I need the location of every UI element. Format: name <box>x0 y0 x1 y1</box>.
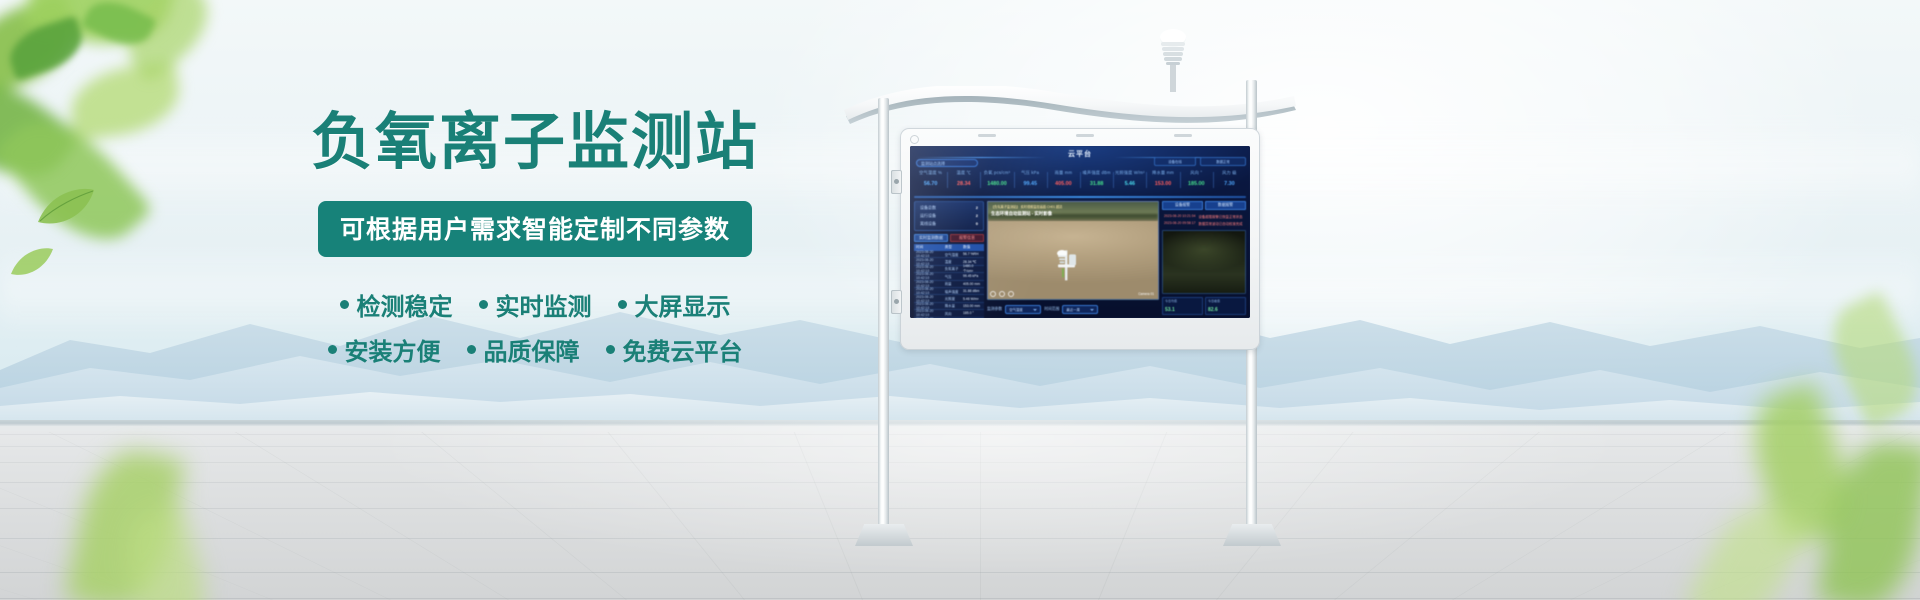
th-type: 类型 <box>945 245 963 250</box>
cell-value: 153.00 mm <box>963 304 984 308</box>
cloud-platform-dashboard[interactable]: 云平台 监测站点选择 设备在线 数据正常 空气湿度 %56.70温度 ℃28.3… <box>910 146 1250 318</box>
metric-label: 温度 ℃ <box>947 170 980 176</box>
cell-type: 风向 <box>945 311 963 316</box>
bullet-dot-icon <box>618 300 627 309</box>
metrics-underline <box>914 196 1246 198</box>
range-select-value: 最近一周 <box>1066 307 1080 312</box>
alarm-tab-row: 设备报警 数据报警 <box>1162 201 1246 210</box>
alarm-time: 2023-08-20 10:21:04 <box>1164 214 1195 219</box>
left-tab-row: 实时监测数据 报警信息 <box>914 234 984 242</box>
feature-list: 检测稳定实时监测大屏显示 安装方便品质保障免费云平台 <box>300 287 770 367</box>
device-stats-panel: 设备总数2运行设备2离线设备0 <box>914 201 984 231</box>
subtitle-badge: 可根据用户需求智能定制不同参数 <box>318 201 752 257</box>
mini-stat-card: 今日峰值82.6 <box>1205 297 1246 315</box>
alarm-list: 2023-08-20 10:21:04设备超限报警已恢复正常状态2023-08-… <box>1162 213 1246 227</box>
metric-label: 风向 ° <box>1180 170 1213 176</box>
bullet-dot-icon <box>479 300 488 309</box>
cell-value: 5.46 W/m² <box>963 297 984 301</box>
readings-table: 时间 类型 数值 2023-08-20 10:42:10空气湿度56.7 %RH… <box>914 244 984 318</box>
cell-value: 56.7 %RH <box>963 252 984 256</box>
feature-label: 实时监测 <box>496 287 592 322</box>
cabinet-vent <box>1174 134 1192 137</box>
tab-data-alarm[interactable]: 数据报警 <box>1205 201 1246 210</box>
kiosk-pole-left <box>878 98 889 536</box>
cabinet-vent <box>978 134 996 137</box>
metric-card: 雨量 mm405.00 <box>1047 170 1080 196</box>
feature-label: 品质保障 <box>484 332 580 367</box>
cell-value: 99.45 kPa <box>963 274 984 278</box>
cell-value: 31.88 dBm <box>963 289 984 293</box>
leaf-accent-left-2 <box>10 246 54 278</box>
mini-stat-card: 今日均值53.1 <box>1162 297 1203 315</box>
metric-card: 降水量 mm153.00 <box>1146 170 1179 196</box>
cell-value: 28.34 ℃ <box>963 260 984 264</box>
kiosk-base-right <box>1223 524 1281 546</box>
display-cabinet: 云平台 监测站点选择 设备在线 数据正常 空气湿度 %56.70温度 ℃28.3… <box>900 128 1260 350</box>
metric-value: 1480.00 <box>980 181 1013 187</box>
metric-label: 气压 kPa <box>1014 170 1047 176</box>
device-stat-row: 设备总数2 <box>918 204 980 212</box>
secondary-camera-feed[interactable] <box>1162 230 1246 294</box>
metric-card: 风力 级7.30 <box>1213 170 1246 196</box>
mini-stat-value: 53.1 <box>1165 307 1175 313</box>
video-weather-station <box>1056 239 1078 286</box>
metric-label: 空气湿度 % <box>914 170 947 176</box>
device-stat-value: 2 <box>976 205 978 211</box>
live-video-player[interactable]: 【负氧离子监测站】 实时视频监控画面 CH01 超清 生态环境自动监测站 - 实… <box>987 201 1159 300</box>
param-select[interactable]: 空气湿度 <box>1005 305 1041 314</box>
metric-label: 负氧 pcs/cm³ <box>980 170 1013 176</box>
th-value: 数值 <box>963 245 984 250</box>
device-stat-row: 离线设备0 <box>918 220 980 228</box>
cell-type: 降水量 <box>945 303 963 308</box>
video-snapshot-icon[interactable] <box>1008 291 1014 297</box>
metrics-strip: 空气湿度 %56.70温度 ℃28.34负氧 pcs/cm³1480.00气压 … <box>914 170 1246 196</box>
device-stat-label: 设备总数 <box>920 205 936 211</box>
feature-row-2: 安装方便品质保障免费云平台 <box>300 332 770 367</box>
cell-type: 光照度 <box>945 296 963 301</box>
cell-time: 2023-08-20 10:42:10 <box>914 317 945 318</box>
mini-stat-value: 82.6 <box>1208 307 1218 313</box>
chart-controls-bar: 监测参数 空气湿度 时间范围 最近一周 <box>987 303 1159 315</box>
video-play-icon[interactable] <box>990 291 996 297</box>
tab-device-alarm[interactable]: 设备报警 <box>1162 201 1203 210</box>
weather-sensor-icon <box>1150 28 1196 92</box>
metric-card: 温度 ℃28.34 <box>947 170 980 196</box>
cell-value: 405.00 mm <box>963 282 984 286</box>
metric-card: 噪声强度 dBm31.88 <box>1080 170 1113 196</box>
right-column: 设备报警 数据报警 2023-08-20 10:21:04设备超限报警已恢复正常… <box>1162 201 1246 315</box>
cabinet-hinge <box>891 170 902 194</box>
metric-label: 风力 级 <box>1213 170 1246 176</box>
metric-label: 光照强度 W/m² <box>1113 170 1146 176</box>
site-select-value: 监测站点选择 <box>921 161 945 167</box>
metric-value: 56.70 <box>914 181 947 187</box>
param-select-value: 空气湿度 <box>1009 307 1023 312</box>
tab-realtime-data[interactable]: 实时监测数据 <box>914 234 948 242</box>
metric-value: 5.46 <box>1113 181 1146 187</box>
status-chip-online[interactable]: 设备在线 <box>1154 157 1196 166</box>
cell-type: 气压 <box>945 274 963 279</box>
device-stat-label: 运行设备 <box>920 213 936 219</box>
video-pause-icon[interactable] <box>999 291 1005 297</box>
cell-type: 噪声强度 <box>945 289 963 294</box>
feature-label: 大屏显示 <box>635 287 731 322</box>
video-controls[interactable] <box>990 291 1014 297</box>
site-select-dropdown[interactable]: 监测站点选择 <box>916 159 978 167</box>
cabinet-vent <box>1076 134 1094 137</box>
cell-value: 185.0 ° <box>963 311 984 315</box>
feature-item: 大屏显示 <box>618 287 731 322</box>
param-label: 监测参数 <box>987 307 1002 312</box>
leaf-accent-left <box>36 186 96 228</box>
video-camera-label: Camera 01 <box>1138 292 1154 296</box>
cell-type: 空气湿度 <box>945 252 963 257</box>
banner-copy: 负氧离子监测站 可根据用户需求智能定制不同参数 检测稳定实时监测大屏显示 安装方… <box>300 110 770 377</box>
status-chip-data[interactable]: 数据正常 <box>1200 157 1246 166</box>
header-status-chips: 设备在线 数据正常 <box>1154 157 1246 168</box>
cell-type: 雨量 <box>945 281 963 286</box>
metric-card: 负氧 pcs/cm³1480.00 <box>980 170 1013 196</box>
metric-value: 28.34 <box>947 181 980 187</box>
page-title: 负氧离子监测站 <box>300 110 770 175</box>
feature-item: 安装方便 <box>328 332 441 367</box>
metric-label: 降水量 mm <box>1146 170 1179 176</box>
metric-value: 31.88 <box>1080 181 1113 187</box>
tab-alarm-info[interactable]: 报警信息 <box>950 234 984 242</box>
feature-label: 安装方便 <box>345 332 441 367</box>
metric-card: 光照强度 W/m²5.46 <box>1113 170 1146 196</box>
dashboard-body: 设备总数2运行设备2离线设备0 实时监测数据 报警信息 时间 类型 数值 <box>914 201 1246 315</box>
metric-value: 99.45 <box>1014 181 1047 187</box>
metric-value: 185.00 <box>1180 181 1213 187</box>
mini-stat-label: 今日峰值 <box>1208 299 1220 303</box>
metric-value: 153.00 <box>1146 181 1179 187</box>
range-select[interactable]: 最近一周 <box>1062 305 1098 314</box>
mini-stat-label: 今日均值 <box>1165 299 1177 303</box>
cell-value: 1480.0 个/cm³ <box>963 264 984 273</box>
alarm-row[interactable]: 2023-08-20 09:58:17数据异常波动已自动校准完成 <box>1162 220 1246 227</box>
cell-type: 温度 <box>945 259 963 264</box>
metric-card: 风向 °185.00 <box>1180 170 1213 196</box>
feature-item: 品质保障 <box>467 332 580 367</box>
metric-label: 噪声强度 dBm <box>1080 170 1113 176</box>
cabinet-hinge <box>891 290 902 314</box>
device-stat-value: 2 <box>976 213 978 219</box>
lcd-screen[interactable]: 云平台 监测站点选择 设备在线 数据正常 空气湿度 %56.70温度 ℃28.3… <box>910 146 1250 318</box>
metric-card: 空气湿度 %56.70 <box>914 170 947 196</box>
range-label: 时间范围 <box>1044 307 1059 312</box>
alarm-text: 数据异常波动已自动校准完成 <box>1198 221 1242 226</box>
mini-stats-row: 今日均值53.1今日峰值82.6 <box>1162 297 1246 315</box>
metric-value: 7.30 <box>1213 181 1246 187</box>
center-column: 【负氧离子监测站】 实时视频监控画面 CH01 超清 生态环境自动监测站 - 实… <box>987 201 1159 315</box>
feature-row-1: 检测稳定实时监测大屏显示 <box>300 287 770 322</box>
left-column: 设备总数2运行设备2离线设备0 实时监测数据 报警信息 时间 类型 数值 <box>914 201 984 315</box>
feature-label: 检测稳定 <box>357 287 453 322</box>
video-osd-title: 生态环境自动监测站 - 实时影像 <box>991 211 1052 217</box>
bullet-dot-icon <box>467 345 476 354</box>
metric-card: 气压 kPa99.45 <box>1014 170 1047 196</box>
alarm-row[interactable]: 2023-08-20 10:21:04设备超限报警已恢复正常状态 <box>1162 213 1246 220</box>
feature-label: 免费云平台 <box>623 332 743 367</box>
cabinet-lock-icon <box>910 135 919 144</box>
cell-type: 负氧离子 <box>945 266 963 271</box>
device-stat-row: 运行设备2 <box>918 212 980 220</box>
monitoring-kiosk: 云平台 监测站点选择 设备在线 数据正常 空气湿度 %56.70温度 ℃28.3… <box>840 28 1300 538</box>
kiosk-base-left <box>855 524 913 546</box>
table-body: 2023-08-20 10:42:10空气湿度56.7 %RH2023-08-2… <box>914 251 984 318</box>
bullet-dot-icon <box>340 300 349 309</box>
bullet-dot-icon <box>328 345 337 354</box>
feature-item: 检测稳定 <box>340 287 453 322</box>
metric-value: 405.00 <box>1047 181 1080 187</box>
metric-label: 雨量 mm <box>1047 170 1080 176</box>
device-stat-value: 0 <box>976 221 978 227</box>
video-osd-top: 【负氧离子监测站】 实时视频监控画面 CH01 超清 <box>991 204 1062 209</box>
alarm-text: 设备超限报警已恢复正常状态 <box>1198 214 1242 219</box>
feature-item: 免费云平台 <box>606 332 743 367</box>
bullet-dot-icon <box>606 345 615 354</box>
banner-stage: 云平台 监测站点选择 设备在线 数据正常 空气湿度 %56.70温度 ℃28.3… <box>0 0 1920 600</box>
alarm-time: 2023-08-20 09:58:17 <box>1164 221 1195 226</box>
feature-item: 实时监测 <box>479 287 592 322</box>
device-stat-label: 离线设备 <box>920 221 936 227</box>
